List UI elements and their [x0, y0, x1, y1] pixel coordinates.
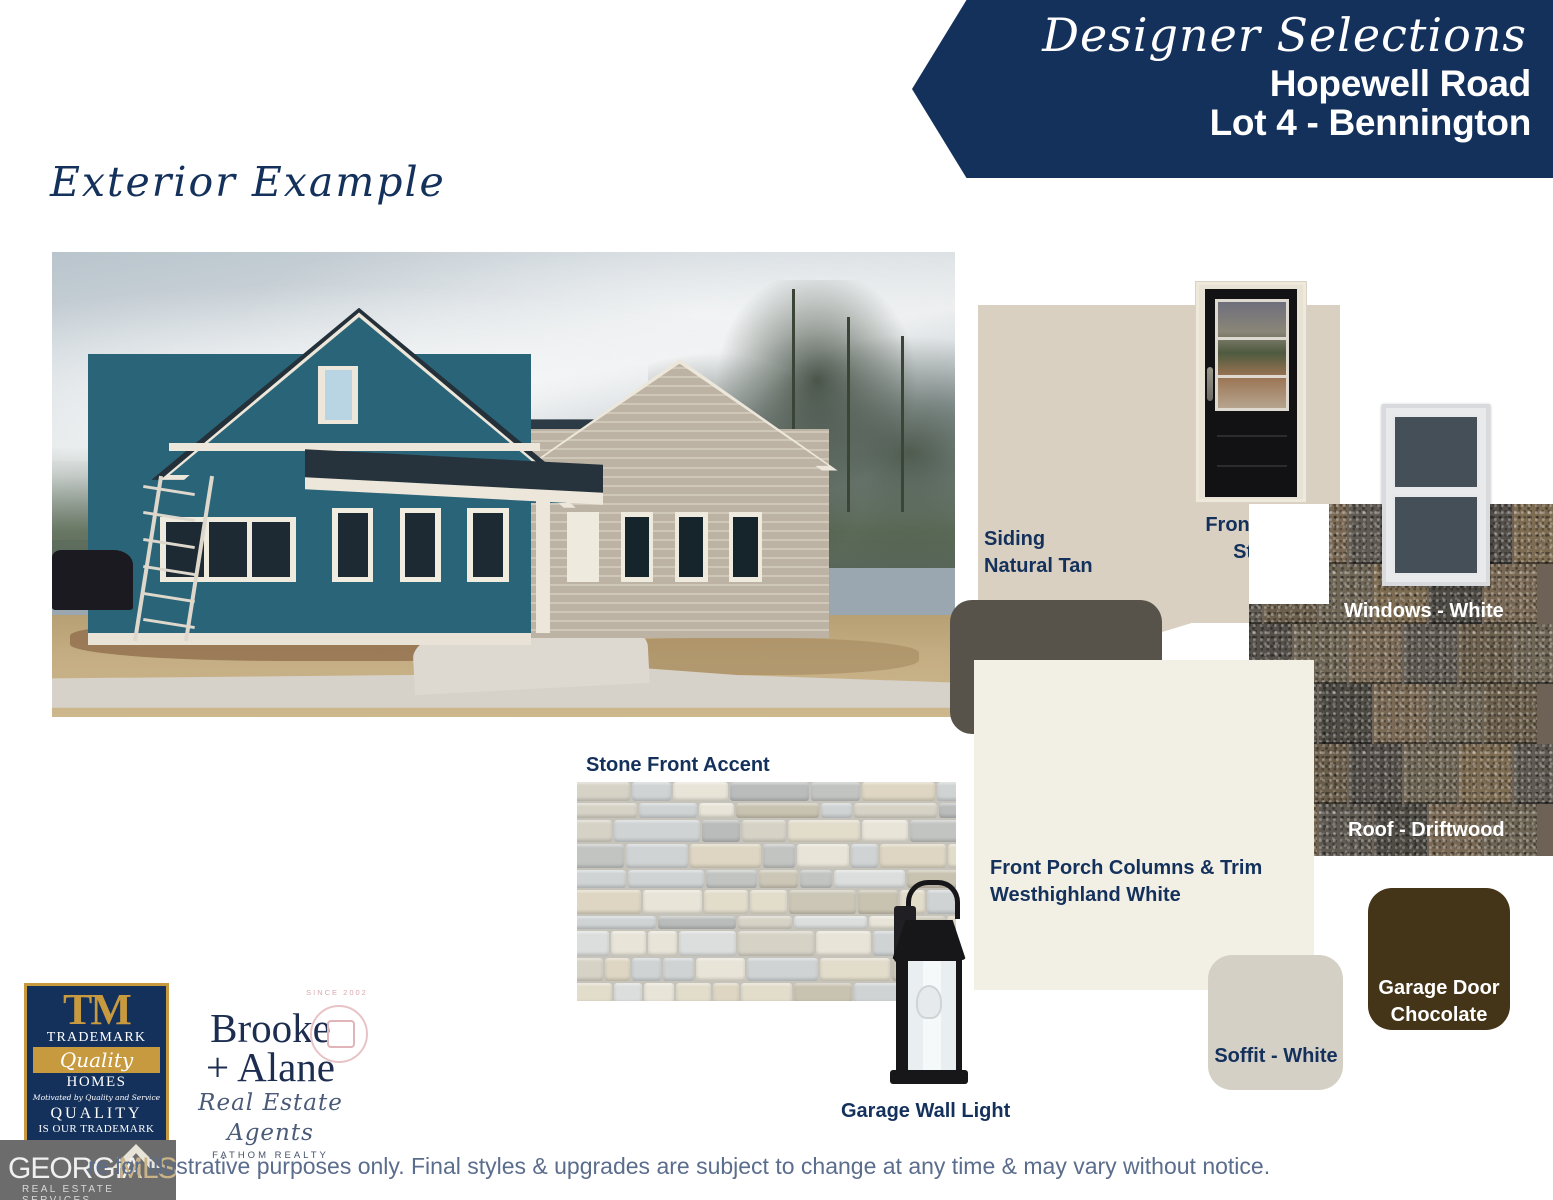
- stone-block: [789, 890, 856, 914]
- soffit-label: Soffit - White: [1210, 1043, 1342, 1070]
- stone-block: [937, 782, 956, 801]
- stone-block: [577, 931, 609, 955]
- stone-block: [862, 782, 934, 801]
- stone-block: [696, 958, 746, 981]
- stone-block: [699, 803, 734, 818]
- header-address-line: Hopewell Road: [912, 64, 1531, 103]
- ba-since-text: SINCE 2002: [300, 988, 374, 997]
- soffit-color-chip: [1208, 955, 1343, 1090]
- stone-block: [658, 916, 736, 929]
- stone-block: [577, 983, 612, 1001]
- stone-block: [577, 916, 656, 929]
- stone-block: [730, 782, 808, 801]
- stone-block: [648, 931, 677, 955]
- stone-block: [577, 890, 641, 914]
- stone-block: [673, 782, 728, 801]
- stone-block: [577, 844, 624, 868]
- trim-label-line2: Westhighland White: [990, 882, 1262, 909]
- tqh-monogram: TM: [27, 988, 166, 1032]
- garage-label-line2: Chocolate: [1368, 1002, 1510, 1029]
- header-lot-line: Lot 4 - Bennington: [912, 103, 1531, 142]
- stone-block: [854, 803, 937, 818]
- stone-block: [939, 803, 956, 818]
- stone-block: [577, 820, 612, 841]
- stone-block: [614, 983, 643, 1001]
- siding-label-line1: Siding: [984, 526, 1093, 553]
- tqh-line3: HOMES: [27, 1074, 166, 1091]
- windows-label: Windows - White: [1344, 598, 1504, 625]
- stone-block: [626, 844, 687, 868]
- trim-label: Front Porch Columns & Trim Westhighland …: [990, 855, 1262, 908]
- stone-block: [676, 983, 712, 1001]
- stone-block: [706, 870, 757, 888]
- stone-block: [605, 958, 629, 981]
- stone-block: [742, 820, 786, 841]
- tqh-tag1: QUALITY: [27, 1105, 166, 1123]
- stone-block: [704, 890, 748, 914]
- tqh-motto: Motivated by Quality and Service: [27, 1093, 166, 1102]
- trademark-quality-homes-logo: TM TRADEMARK Quality HOMES Motivated by …: [24, 983, 169, 1148]
- stone-block: [663, 958, 694, 981]
- front-door-style-image: [1196, 282, 1306, 502]
- stone-block: [910, 820, 956, 841]
- stone-block: [632, 782, 671, 801]
- exterior-example-title: Exterior Example: [50, 158, 446, 206]
- siding-label-line2: Natural Tan: [984, 553, 1093, 580]
- garage-door-label: Garage Door Chocolate: [1368, 975, 1510, 1028]
- stone-block: [948, 844, 956, 868]
- stone-block: [644, 983, 673, 1001]
- stone-block: [611, 931, 645, 955]
- stone-block: [800, 870, 832, 888]
- trim-label-line1: Front Porch Columns & Trim: [990, 855, 1262, 882]
- stone-block: [577, 870, 626, 888]
- stone-block: [738, 931, 814, 955]
- stone-block: [702, 820, 740, 841]
- stone-block: [614, 820, 699, 841]
- tqh-line1: TRADEMARK: [27, 1030, 166, 1046]
- disclaimer-text: re for illustrative purposes only. Final…: [88, 1153, 1538, 1180]
- stone-block: [811, 782, 860, 801]
- stone-block: [679, 931, 736, 955]
- stone-block: [577, 782, 630, 801]
- roof-label: Roof - Driftwood: [1348, 817, 1505, 844]
- stone-block: [632, 958, 661, 981]
- ba-script: Real Estate Agents: [183, 1088, 358, 1148]
- stone-block: [862, 820, 908, 841]
- stone-block: [747, 958, 818, 981]
- exterior-house-photo: [52, 252, 955, 717]
- roof-spacer: [1314, 586, 1553, 590]
- stone-block: [690, 844, 761, 868]
- stone-block: [577, 803, 637, 818]
- stone-block: [738, 916, 791, 929]
- stone-block: [759, 870, 798, 888]
- stone-block: [821, 803, 852, 818]
- gamls-tagline: REAL ESTATE SERVICES: [22, 1184, 176, 1200]
- tqh-line2: Quality: [33, 1047, 160, 1073]
- stone-block: [797, 844, 849, 868]
- siding-label: Siding Natural Tan: [984, 526, 1093, 579]
- stone-block: [577, 958, 603, 981]
- stone-block: [639, 803, 698, 818]
- window-sample-image: [1382, 404, 1490, 586]
- stone-block: [736, 803, 818, 818]
- stone-block: [763, 844, 795, 868]
- stone-block: [713, 983, 739, 1001]
- stone-block: [816, 931, 871, 955]
- header-banner: Designer Selections Hopewell Road Lot 4 …: [912, 0, 1553, 178]
- stone-block: [741, 983, 792, 1001]
- garage-wall-light-image: [880, 880, 976, 1095]
- garage-label-line1: Garage Door: [1368, 975, 1510, 1002]
- stone-block: [750, 890, 787, 914]
- header-script-title: Designer Selections: [912, 6, 1531, 64]
- tqh-tag2: IS OUR TRADEMARK: [27, 1123, 166, 1135]
- garage-wall-light-label: Garage Wall Light: [841, 1098, 1010, 1125]
- stone-block: [794, 916, 867, 929]
- stone-block: [880, 844, 946, 868]
- stone-block: [628, 870, 704, 888]
- house-badge-icon: [310, 1005, 368, 1063]
- stone-block: [788, 820, 860, 841]
- stone-accent-label: Stone Front Accent: [586, 752, 770, 779]
- stone-block: [643, 890, 701, 914]
- stone-block: [794, 983, 851, 1001]
- stone-block: [851, 844, 878, 868]
